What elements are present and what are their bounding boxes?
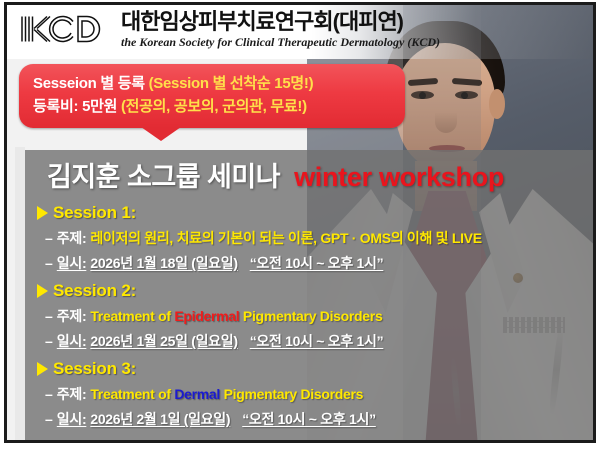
org-title-block: 대한임상피부치료연구회(대피연) the Korean Society for … <box>121 11 440 48</box>
poster-header: 대한임상피부치료연구회(대피연) the Korean Society for … <box>7 5 593 59</box>
topic-post: Pigmentary Disorders <box>220 386 363 402</box>
session-time: “오전 10시 ~ 오후 1시” <box>250 331 384 351</box>
notice-line-1: Sesseion 별 등록 (Session 별 선착순 15명!) <box>33 72 393 95</box>
session-name: Session 3: <box>53 359 136 379</box>
bullet-dash: – <box>45 255 53 271</box>
poster-image: 대한임상피부치료연구회(대피연) the Korean Society for … <box>0 0 600 450</box>
notice-bubble: Sesseion 별 등록 (Session 별 선착순 15명!) 등록비: … <box>19 64 405 128</box>
bullet-dash: – <box>45 230 53 246</box>
datetime-label: 일시: <box>57 409 87 429</box>
topic-post: Pigmentary Disorders <box>239 308 382 324</box>
page-title: 김지훈 소그룹 세미나 winter workshop <box>47 155 504 194</box>
session-time: “오전 10시 ~ 오후 1시” <box>250 253 384 273</box>
topic-keyword: Dermal <box>174 386 220 402</box>
session-datetime-row: – 일시: 2026년 1월 25일 (일요일) “오전 10시 ~ 오후 1시… <box>37 331 593 351</box>
session-topic-row: – 주제: 레이저의 원리, 치료의 기본이 되는 이론, GPT · OMS의… <box>37 228 593 248</box>
notice-line-2-main: 등록비: 5만원 <box>33 98 121 115</box>
session-name: Session 2: <box>53 281 136 301</box>
datetime-label: 일시: <box>57 331 87 351</box>
topic-pre: Treatment of <box>90 308 174 324</box>
organization-name: 대한임상피부치료연구회(대피연) <box>121 11 440 33</box>
organization-subtitle: the Korean Society for Clinical Therapeu… <box>121 36 440 48</box>
portrait-pupil-right <box>461 92 468 99</box>
triangle-right-icon <box>37 206 48 220</box>
kcd-monogram-icon <box>19 10 111 48</box>
portrait-ear-right <box>489 89 505 119</box>
session-date: 2026년 1월 25일 (일요일) <box>90 331 237 351</box>
triangle-right-icon <box>37 284 48 298</box>
datetime-label: 일시: <box>57 253 87 273</box>
topic-value: 레이저의 원리, 치료의 기본이 되는 이론, GPT · OMS의 이해 및 … <box>90 228 481 248</box>
poster-frame: 대한임상피부치료연구회(대피연) the Korean Society for … <box>4 2 596 443</box>
topic-pre: Treatment of <box>90 386 174 402</box>
portrait-nose <box>435 103 457 133</box>
session-name: Session 1: <box>53 203 136 223</box>
session-item: Session 1: – 주제: 레이저의 원리, 치료의 기본이 되는 이론,… <box>37 203 593 273</box>
session-header: Session 3: <box>37 359 593 379</box>
page-title-english: winter workshop <box>294 162 504 193</box>
session-date: 2026년 2월 1일 (일요일) <box>90 409 230 429</box>
topic-pre: 레이저의 원리, 치료의 기본이 되는 이론, GPT · OMS의 이해 및 … <box>90 230 481 246</box>
notice-line-2: 등록비: 5만원 (전공의, 공보의, 군의관, 무료!) <box>33 95 393 118</box>
registration-notice: Sesseion 별 등록 (Session 별 선착순 15명!) 등록비: … <box>19 64 405 128</box>
header-inner: 대한임상피부치료연구회(대피연) the Korean Society for … <box>19 10 440 48</box>
session-datetime-row: – 일시: 2026년 2월 1일 (일요일) “오전 10시 ~ 오후 1시” <box>37 409 593 429</box>
session-datetime-row: – 일시: 2026년 1월 18일 (일요일) “오전 10시 ~ 오후 1시… <box>37 253 593 273</box>
topic-keyword: Epidermal <box>174 308 239 324</box>
panel-left-edge <box>15 147 25 443</box>
topic-value: Treatment of Epidermal Pigmentary Disord… <box>90 308 382 324</box>
notice-line-1-main: Sesseion 별 등록 <box>33 75 149 92</box>
session-item: Session 2: – 주제: Treatment of Epidermal … <box>37 281 593 351</box>
session-list: Session 1: – 주제: 레이저의 원리, 치료의 기본이 되는 이론,… <box>37 203 593 437</box>
session-date: 2026년 1월 18일 (일요일) <box>90 253 237 273</box>
session-header: Session 1: <box>37 203 593 223</box>
notice-bubble-tail <box>141 127 181 141</box>
topic-label: 주제: <box>57 384 87 404</box>
portrait-pupil-left <box>419 92 426 99</box>
notice-line-1-highlight: (Session 별 선착순 15명!) <box>149 75 314 92</box>
session-time: “오전 10시 ~ 오후 1시” <box>242 409 376 429</box>
notice-line-2-highlight: (전공의, 공보의, 군의관, 무료!) <box>121 98 307 115</box>
triangle-right-icon <box>37 362 48 376</box>
bullet-dash: – <box>45 411 53 427</box>
topic-value: Treatment of Dermal Pigmentary Disorders <box>90 386 363 402</box>
session-header: Session 2: <box>37 281 593 301</box>
session-topic-row: – 주제: Treatment of Epidermal Pigmentary … <box>37 306 593 326</box>
bullet-dash: – <box>45 333 53 349</box>
page-title-korean: 김지훈 소그룹 세미나 <box>47 155 280 194</box>
topic-label: 주제: <box>57 306 87 326</box>
session-item: Session 3: – 주제: Treatment of Dermal Pig… <box>37 359 593 429</box>
bullet-dash: – <box>45 386 53 402</box>
topic-label: 주제: <box>57 228 87 248</box>
bullet-dash: – <box>45 308 53 324</box>
session-topic-row: – 주제: Treatment of Dermal Pigmentary Dis… <box>37 384 593 404</box>
